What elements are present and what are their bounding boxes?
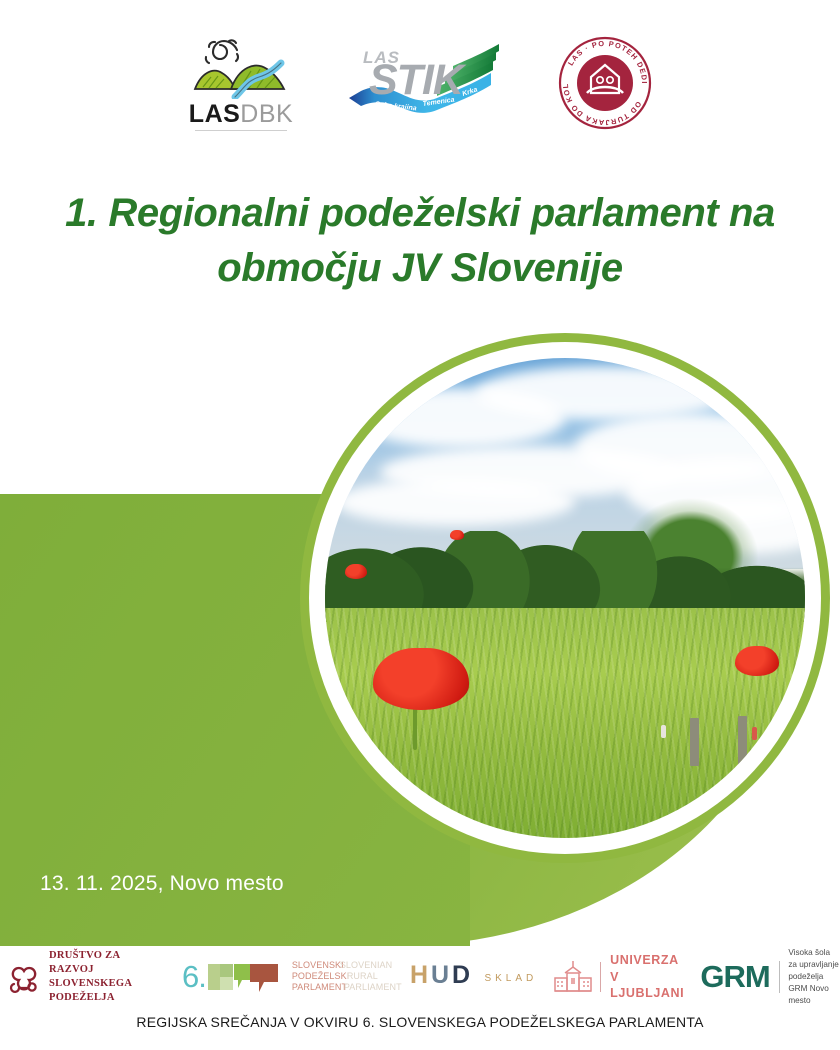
grm-subtitle: Visoka šola za upravljanje podeželja GRM… xyxy=(788,947,840,1006)
svg-text:D: D xyxy=(452,962,471,988)
sprp-en-line1: SLOVENIAN xyxy=(340,960,392,971)
footer-logo-univerza: UNIVERZA V LJUBLJANI xyxy=(553,952,684,1003)
las-dbk-primary: LAS xyxy=(189,100,241,128)
photo-poppy-main xyxy=(373,648,469,710)
footer-logo-strip: DRUŠTVO ZA RAZVOJ SLOVENSKEGA PODEŽELJA … xyxy=(0,946,840,1008)
bottom-caption: REGIJSKA SREČANJA V OKVIRU 6. SLOVENSKEG… xyxy=(0,1014,840,1030)
las-dbk-secondary: DBK xyxy=(240,100,293,128)
uni-line2: V LJUBLJANI xyxy=(610,969,684,1003)
grm-sub3: GRM Novo mesto xyxy=(788,983,840,1007)
sprp-si-line2: PODEŽELSKI xyxy=(292,971,350,982)
drustvo-line1: DRUŠTVO ZA RAZVOJ xyxy=(49,949,160,977)
poster-title: 1. Regionalni podeželski parlament na ob… xyxy=(0,186,840,296)
grm-sub1: Visoka šola xyxy=(788,947,840,959)
sun-hills-river-icon xyxy=(189,37,293,99)
university-building-icon xyxy=(553,959,593,995)
footer-logo-srp: 6. xyxy=(182,959,282,995)
hud-letters-icon: H U D xyxy=(410,962,484,993)
sprp-si-line3: PARLAMENT xyxy=(292,982,347,993)
univerza-wordmark: UNIVERZA V LJUBLJANI xyxy=(610,952,684,1003)
logo-las-stik: Suha krajina Temenica Krka LAS STIK xyxy=(341,40,511,126)
svg-text:H: H xyxy=(410,962,429,988)
hero-photo-circle xyxy=(325,358,805,838)
heart-emblem-icon xyxy=(6,960,42,994)
footer-logo-drustvo: DRUŠTVO ZA RAZVOJ SLOVENSKEGA PODEŽELJA xyxy=(6,949,160,1006)
grm-sub2: za upravljanje podeželja xyxy=(788,959,840,983)
svg-text:U: U xyxy=(431,962,450,988)
sprp-si-line1: SLOVENSKI xyxy=(292,960,344,971)
drustvo-line2: SLOVENSKEGA PODEŽELJA xyxy=(49,977,160,1005)
las-stik-main-word: STIK xyxy=(369,56,463,105)
photo-grain-field xyxy=(325,608,805,838)
photo-poppy-stem xyxy=(413,706,417,750)
grm-divider xyxy=(779,961,780,993)
sprp-en-line3: PARLIAMENT xyxy=(344,982,402,993)
top-logo-strip: LASDBK xyxy=(0,28,840,138)
logo-las-dbk: LASDBK xyxy=(187,35,295,131)
footer-logo-grm: GRM Visoka šola za upravljanje podeželja… xyxy=(700,947,840,1006)
drustvo-wordmark: DRUŠTVO ZA RAZVOJ SLOVENSKEGA PODEŽELJA xyxy=(49,949,160,1006)
footer-sprp-text: SLOVENSKI SLOVENIAN PODEŽELSKI RURAL PAR… xyxy=(292,960,397,994)
footer-logo-hud: H U D SKLAD xyxy=(410,962,537,993)
hud-sub: SKLAD xyxy=(484,973,537,984)
uni-line1: UNIVERZA xyxy=(610,952,684,969)
poster-canvas: LASDBK xyxy=(0,0,840,1050)
grm-wordmark: GRM xyxy=(700,961,769,992)
date-location-text: 13. 11. 2025, Novo mesto xyxy=(40,872,284,896)
srp-number: 6. xyxy=(182,959,206,995)
logo-las-kolpa: LAS · PO POTEH DEDIŠČINE OD TURJAKA DO K… xyxy=(557,35,653,131)
sprp-en-line2: RURAL xyxy=(347,971,378,982)
photo-poppy-small-b xyxy=(450,530,464,540)
las-dbk-wordmark: LASDBK xyxy=(189,102,293,127)
las-dbk-rule xyxy=(195,130,287,131)
photo-poppy-small-a xyxy=(345,564,367,579)
uni-divider xyxy=(600,962,601,992)
house-heart-circle-icon: LAS · PO POTEH DEDIŠČINE OD TURJAKA DO K… xyxy=(557,35,653,131)
photo-poppy-secondary xyxy=(735,646,779,676)
speech-bubble-icon xyxy=(208,960,282,994)
